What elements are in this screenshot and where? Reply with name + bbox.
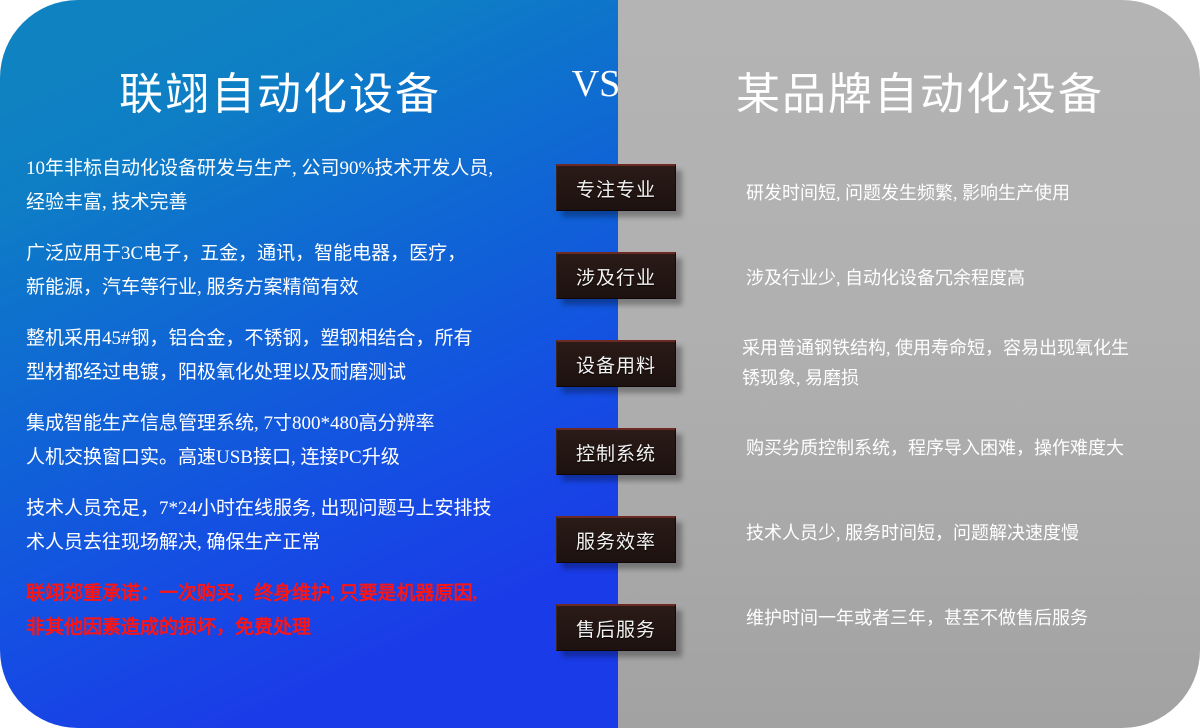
category-plate-label: 专注专业 bbox=[576, 175, 656, 202]
left-feature-text-line: 经验丰富, 技术完善 bbox=[26, 184, 536, 218]
right-feature-item: 技术人员少, 服务时间短，问题解决速度慢 bbox=[742, 490, 1192, 575]
left-feature-item: 整机采用45#钢，铝合金，不锈钢，塑钢相结合，所有型材都经过电镀，阳极氧化处理以… bbox=[26, 320, 536, 405]
left-feature-text-line: 10年非标自动化设备研发与生产, 公司90%技术开发人员, bbox=[26, 150, 536, 184]
right-brand-title: 某品牌自动化设备 bbox=[640, 58, 1200, 122]
right-feature-text-line: 锈现象, 易磨损 bbox=[742, 363, 1192, 393]
left-feature-text-line: 广泛应用于3C电子，五金，通讯，智能电器，医疗， bbox=[26, 235, 536, 269]
category-plate: 控制系统 bbox=[556, 428, 676, 475]
right-feature-item: 涉及行业少, 自动化设备冗余程度高 bbox=[742, 235, 1192, 320]
left-feature-text-line: 术人员去往现场解决, 确保生产正常 bbox=[26, 524, 536, 558]
category-label-column: 专注专业涉及行业设备用料控制系统服务效率售后服务 bbox=[556, 164, 686, 692]
comparison-poster: 联翊自动化设备 VS 某品牌自动化设备 10年非标自动化设备研发与生产, 公司9… bbox=[0, 0, 1200, 728]
category-plate: 服务效率 bbox=[556, 516, 676, 563]
poster-panel: 联翊自动化设备 VS 某品牌自动化设备 10年非标自动化设备研发与生产, 公司9… bbox=[0, 0, 1200, 728]
category-plate-label: 控制系统 bbox=[576, 439, 656, 466]
vs-divider-label: VS bbox=[560, 62, 632, 106]
category-plate-label: 涉及行业 bbox=[576, 263, 656, 290]
left-feature-item: 联翊郑重承诺：一次购买，终身维护, 只要是机器原因,非其他因素造成的损坏，免费处… bbox=[26, 575, 536, 660]
category-plate-label: 服务效率 bbox=[576, 527, 656, 554]
left-brand-title: 联翊自动化设备 bbox=[0, 58, 560, 122]
right-feature-text-line: 维护时间一年或者三年，甚至不做售后服务 bbox=[742, 603, 1192, 633]
right-feature-item: 采用普通钢铁结构, 使用寿命短，容易出现氧化生锈现象, 易磨损 bbox=[742, 320, 1192, 405]
category-plate-label: 售后服务 bbox=[576, 615, 656, 642]
left-feature-item: 10年非标自动化设备研发与生产, 公司90%技术开发人员,经验丰富, 技术完善 bbox=[26, 150, 536, 235]
left-feature-text-line: 技术人员充足，7*24小时在线服务, 出现问题马上安排技 bbox=[26, 490, 536, 524]
right-feature-text-line: 购买劣质控制系统，程序导入困难，操作难度大 bbox=[742, 433, 1192, 463]
left-feature-item: 广泛应用于3C电子，五金，通讯，智能电器，医疗，新能源，汽车等行业, 服务方案精… bbox=[26, 235, 536, 320]
right-feature-item: 购买劣质控制系统，程序导入困难，操作难度大 bbox=[742, 405, 1192, 490]
left-feature-item: 集成智能生产信息管理系统, 7寸800*480高分辨率人机交换窗口实。高速USB… bbox=[26, 405, 536, 490]
category-plate: 售后服务 bbox=[556, 604, 676, 651]
right-feature-text-line: 涉及行业少, 自动化设备冗余程度高 bbox=[742, 263, 1192, 293]
category-plate: 专注专业 bbox=[556, 164, 676, 211]
category-plate-label: 设备用料 bbox=[576, 351, 656, 378]
right-feature-text-line: 研发时间短, 问题发生频繁, 影响生产使用 bbox=[742, 178, 1192, 208]
left-feature-item: 技术人员充足，7*24小时在线服务, 出现问题马上安排技术人员去往现场解决, 确… bbox=[26, 490, 536, 575]
right-feature-column: 研发时间短, 问题发生频繁, 影响生产使用涉及行业少, 自动化设备冗余程度高采用… bbox=[742, 150, 1192, 660]
right-feature-text-line: 采用普通钢铁结构, 使用寿命短，容易出现氧化生 bbox=[742, 333, 1192, 363]
category-plate: 涉及行业 bbox=[556, 252, 676, 299]
left-feature-text-line: 整机采用45#钢，铝合金，不锈钢，塑钢相结合，所有 bbox=[26, 320, 536, 354]
left-feature-text-line: 新能源，汽车等行业, 服务方案精简有效 bbox=[26, 269, 536, 303]
left-feature-text-line: 人机交换窗口实。高速USB接口, 连接PC升级 bbox=[26, 439, 536, 473]
left-feature-text-line: 联翊郑重承诺：一次购买，终身维护, 只要是机器原因, bbox=[26, 575, 536, 609]
category-plate: 设备用料 bbox=[556, 340, 676, 387]
left-feature-text-line: 集成智能生产信息管理系统, 7寸800*480高分辨率 bbox=[26, 405, 536, 439]
left-feature-text-line: 非其他因素造成的损坏，免费处理 bbox=[26, 609, 536, 643]
right-feature-item: 维护时间一年或者三年，甚至不做售后服务 bbox=[742, 575, 1192, 660]
right-feature-item: 研发时间短, 问题发生频繁, 影响生产使用 bbox=[742, 150, 1192, 235]
right-feature-text-line: 技术人员少, 服务时间短，问题解决速度慢 bbox=[742, 518, 1192, 548]
left-feature-text-line: 型材都经过电镀，阳极氧化处理以及耐磨测试 bbox=[26, 354, 536, 388]
left-feature-column: 10年非标自动化设备研发与生产, 公司90%技术开发人员,经验丰富, 技术完善广… bbox=[26, 150, 536, 660]
